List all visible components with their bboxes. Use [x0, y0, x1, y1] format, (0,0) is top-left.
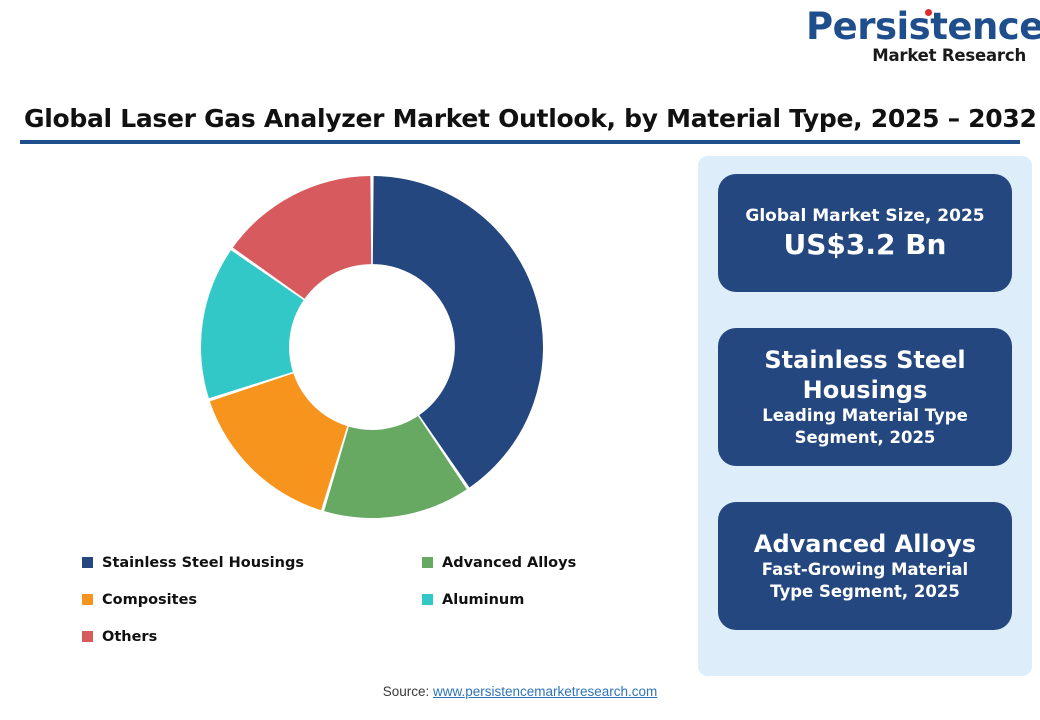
- infographic-page: Persistence Market Research Global Laser…: [0, 0, 1040, 720]
- market-size-value: US$3.2 Bn: [777, 228, 952, 262]
- leading-segment-caption-line1: Leading Material Type: [752, 405, 978, 427]
- leading-segment-name: Stainless Steel Housings: [718, 345, 1012, 405]
- legend-label-others: Others: [102, 629, 157, 645]
- market-size-label: Global Market Size, 2025: [737, 205, 992, 228]
- brand-tagline: Market Research: [806, 46, 1026, 66]
- brand-name: Persistence: [806, 8, 1026, 46]
- legend-item-others: Others: [82, 629, 422, 645]
- brand-dot-icon: [925, 9, 932, 16]
- legend-item-advanced-alloys: Advanced Alloys: [422, 555, 682, 571]
- highlight-card-market-size: Global Market Size, 2025 US$3.2 Bn: [718, 174, 1012, 292]
- legend-swatch-advanced-alloys: [422, 557, 433, 568]
- legend-item-composites: Composites: [82, 592, 422, 608]
- source-link[interactable]: www.persistencemarketresearch.com: [433, 684, 657, 699]
- chart-legend: Stainless Steel Housings Advanced Alloys…: [82, 544, 682, 655]
- legend-swatch-aluminum: [422, 594, 433, 605]
- legend-item-aluminum: Aluminum: [422, 592, 682, 608]
- fastest-growing-caption-line1: Fast-Growing Material: [752, 559, 978, 581]
- brand-logo: Persistence Market Research: [806, 8, 1026, 68]
- donut-slice-group: [201, 176, 543, 518]
- donut-slice-composites: [210, 373, 347, 510]
- highlight-card-fastest-growing-segment: Advanced Alloys Fast-Growing Material Ty…: [718, 502, 1012, 630]
- leading-segment-caption-line2: Segment, 2025: [785, 427, 946, 449]
- legend-label-aluminum: Aluminum: [442, 592, 524, 608]
- legend-swatch-stainless-steel-housings: [82, 557, 93, 568]
- fastest-growing-caption-line2: Type Segment, 2025: [760, 581, 970, 603]
- title-divider: [20, 140, 1020, 144]
- legend-swatch-composites: [82, 594, 93, 605]
- highlight-card-leading-segment: Stainless Steel Housings Leading Materia…: [718, 328, 1012, 466]
- source-prefix: Source:: [383, 684, 433, 699]
- legend-swatch-others: [82, 631, 93, 642]
- page-title: Global Laser Gas Analyzer Market Outlook…: [24, 104, 1014, 133]
- legend-label-composites: Composites: [102, 592, 197, 608]
- legend-label-advanced-alloys: Advanced Alloys: [442, 555, 576, 571]
- legend-label-stainless-steel-housings: Stainless Steel Housings: [102, 555, 304, 571]
- legend-item-stainless-steel-housings: Stainless Steel Housings: [82, 555, 422, 571]
- fastest-growing-segment-name: Advanced Alloys: [744, 529, 986, 559]
- highlights-panel: Global Market Size, 2025 US$3.2 Bn Stain…: [698, 156, 1032, 676]
- source-line: Source: www.persistencemarketresearch.co…: [0, 684, 1040, 699]
- donut-chart: [201, 176, 543, 518]
- chart-region: [20, 150, 680, 550]
